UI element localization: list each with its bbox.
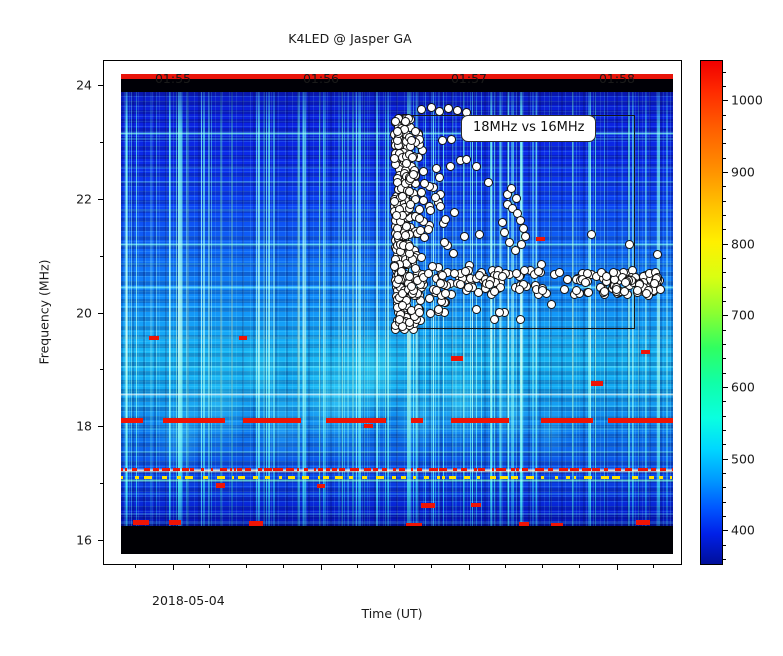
colorbar-tick-minor [722,344,726,345]
scatter-point [441,289,450,298]
scatter-point [461,267,470,276]
colorbar-tick-minor [722,72,726,73]
x-tick-minor [505,564,506,568]
scatter-point [426,206,435,215]
y-tick-minor [100,256,104,257]
colorbar-tick-minor [722,115,726,116]
spectrogram-raster [121,74,673,554]
colorbar-tick-minor [722,143,726,144]
scatter-point [642,289,651,298]
x-tick-minor [431,564,432,568]
colorbar-tick-minor [722,215,726,216]
scatter-point [446,162,455,171]
colorbar-tick-minor [722,86,726,87]
x-tick-label: 01:56 [303,71,339,86]
scatter-point [515,285,524,294]
scatter-point [409,170,418,179]
colorbar-tick-label: 700 [731,308,755,323]
scatter-point [563,275,572,284]
scatter-point [653,250,662,259]
colorbar-tick-minor [722,444,726,445]
scatter-point [512,194,521,203]
colorbar-tick-major [722,244,728,245]
colorbar-tick-minor [722,272,726,273]
colorbar-tick-minor [722,330,726,331]
scatter-point [392,211,401,220]
y-tick-label: 18 [68,419,92,434]
scatter-point [547,300,556,309]
scatter-point [600,287,609,296]
y-tick-label: 22 [68,191,92,206]
scatter-point [484,178,493,187]
scatter-point [426,309,435,318]
y-tick-label: 20 [68,305,92,320]
colorbar-tick-minor [722,358,726,359]
scatter-point [449,249,458,258]
colorbar-tick-minor [722,201,726,202]
colorbar-tick-minor [722,401,726,402]
page-title: K4LED @ Jasper GA [0,31,700,46]
scatter-point [584,288,593,297]
scatter-point [621,278,630,287]
scatter-point [434,305,443,314]
colorbar-tick-minor [722,229,726,230]
scatter-point [516,315,525,324]
colorbar-tick-label: 900 [731,165,755,180]
colorbar-tick-label: 1000 [731,93,763,108]
x-tick-major [617,564,618,570]
colorbar-tick-minor [722,545,726,546]
scatter-point [417,253,426,262]
scatter-point [419,167,428,176]
scatter-point [462,155,471,164]
x-tick-major [321,564,322,570]
colorbar-tick-minor [722,186,726,187]
scatter-point [505,238,514,247]
colorbar-tick-label: 400 [731,523,755,538]
colorbar-tick-minor [722,158,726,159]
scatter-point [424,225,433,234]
scatter-point [498,272,507,281]
x-tick-minor [357,564,358,568]
scatter-point [500,228,509,237]
colorbar-tick-major [722,100,728,101]
scatter-point [572,286,581,295]
colorbar-tick-label: 800 [731,236,755,251]
scatter-point [472,305,481,314]
annotation-box: 18MHz vs 16MHz [461,115,596,142]
scatter-point [435,107,444,116]
scatter-point [507,184,516,193]
colorbar-tick-minor [722,502,726,503]
colorbar-tick-minor [722,516,726,517]
colorbar-tick-major [722,530,728,531]
scatter-overlay [121,74,673,554]
x-tick-minor [283,564,284,568]
scatter-point [393,127,402,136]
scatter-point [435,173,444,182]
colorbar-tick-minor [722,301,726,302]
scatter-point [609,268,618,277]
scatter-point [415,308,424,317]
x-tick-minor [209,564,210,568]
scatter-point [633,286,642,295]
x-tick-minor [653,564,654,568]
scatter-point [534,267,543,276]
scatter-point [460,232,469,241]
scatter-point [438,271,447,280]
scatter-point [444,104,453,113]
scatter-point [436,202,445,211]
y-tick-label: 16 [68,532,92,547]
scatter-point [419,196,428,205]
colorbar-tick-label: 500 [731,451,755,466]
spectrogram-figure: K4LED @ Jasper GA Frequency (MHz) Time (… [0,0,783,656]
x-tick-minor [394,564,395,568]
scatter-point [511,246,520,255]
scatter-point [447,135,456,144]
scatter-point [406,200,415,209]
date-label: 2018-05-04 [152,593,225,608]
scatter-point [538,286,547,295]
scatter-point [407,282,416,291]
x-tick-label: 01:57 [451,71,487,86]
colorbar-tick-minor [722,559,726,560]
scatter-point [438,136,447,145]
scatter-point [475,230,484,239]
y-tick-minor [100,142,104,143]
scatter-point [583,269,592,278]
scatter-point [472,162,481,171]
scatter-point [417,105,426,114]
x-tick-minor [246,564,247,568]
colorbar-tick-major [722,387,728,388]
scatter-point [625,240,634,249]
scatter-point [612,285,621,294]
scatter-point [450,208,459,217]
x-tick-major [469,564,470,570]
colorbar-tick-minor [722,487,726,488]
colorbar-tick-minor [722,473,726,474]
scatter-point [560,285,569,294]
x-axis-title: Time (UT) [361,606,422,621]
scatter-point [402,222,411,231]
scatter-point [498,218,507,227]
colorbar: 4005006007008009001000 [700,60,723,565]
colorbar-tick-minor [722,416,726,417]
colorbar-tick-label: 600 [731,379,755,394]
colorbar-tick-minor [722,430,726,431]
colorbar-tick-minor [722,373,726,374]
colorbar-tick-minor [722,129,726,130]
x-tick-label: 01:58 [599,71,635,86]
scatter-point [405,187,414,196]
y-tick-major [98,540,104,541]
y-tick-label: 24 [68,78,92,93]
scatter-point [395,315,404,324]
y-tick-major [98,199,104,200]
scatter-point [441,215,450,224]
colorbar-tick-minor [722,258,726,259]
colorbar-tick-major [722,172,728,173]
y-tick-major [98,85,104,86]
y-tick-major [98,313,104,314]
x-tick-minor [542,564,543,568]
x-tick-minor [579,564,580,568]
scatter-point [453,106,462,115]
x-tick-major [173,564,174,570]
y-tick-major [98,426,104,427]
y-tick-minor [100,369,104,370]
scatter-point [587,230,596,239]
x-tick-minor [135,564,136,568]
colorbar-tick-major [722,315,728,316]
y-axis-title: Frequency (MHz) [37,259,52,364]
scatter-point [417,188,426,197]
colorbar-tick-minor [722,287,726,288]
x-tick-label: 01:55 [155,71,191,86]
scatter-point [424,269,433,278]
y-tick-minor [100,483,104,484]
scatter-point [405,242,414,251]
colorbar-tick-major [722,459,728,460]
